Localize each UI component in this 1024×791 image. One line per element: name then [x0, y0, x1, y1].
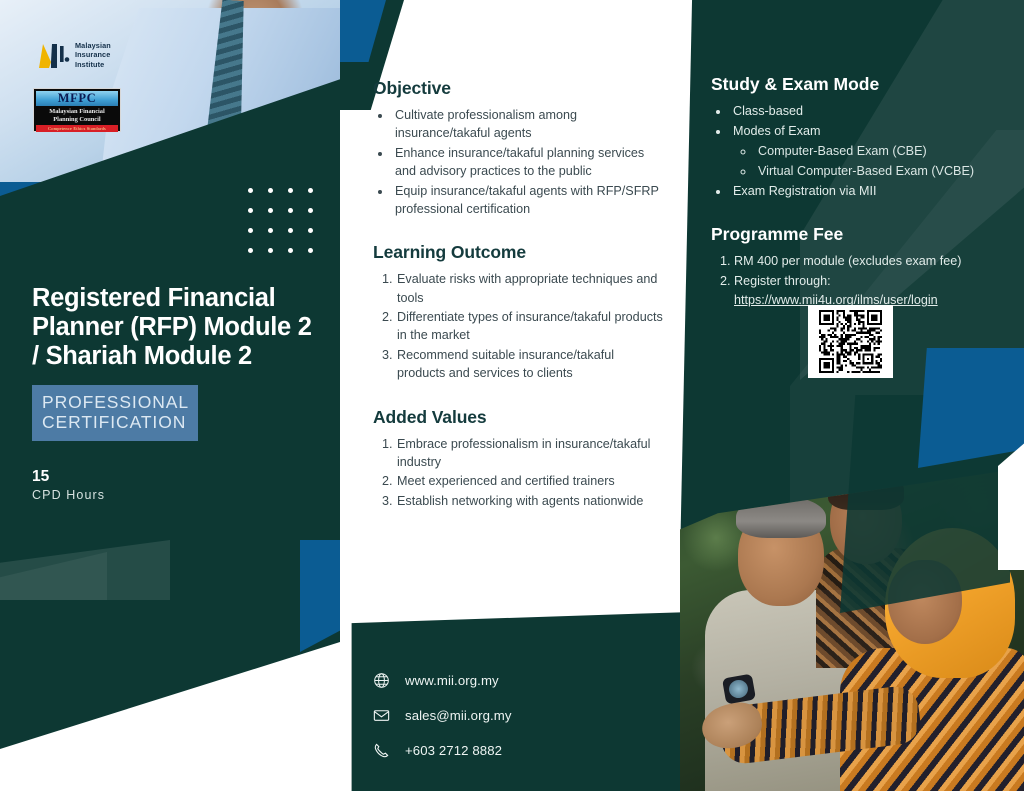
dot-grid-decoration	[248, 188, 312, 252]
mfpc-logo: MFPC Malaysian FinancialPlanning Council…	[33, 88, 121, 132]
grid-dot	[288, 248, 293, 253]
mfpc-logo-title: MFPC	[36, 91, 118, 106]
left-panel: Malaysian Insurance Institute MFPC Malay…	[0, 0, 340, 791]
contact-phone-row[interactable]: +603 2712 8882	[373, 742, 653, 759]
learning-outcome-heading: Learning Outcome	[373, 242, 663, 263]
register-through-label: Register through:	[734, 274, 831, 288]
mii-logo: Malaysian Insurance Institute	[36, 38, 140, 72]
list-item: Computer-Based Exam (CBE)	[755, 142, 1003, 161]
added-values-heading: Added Values	[373, 407, 663, 428]
list-item: RM 400 per module (excludes exam fee)	[734, 252, 1003, 271]
brochure-page: Malaysian Insurance Institute MFPC Malay…	[0, 0, 1024, 791]
grid-dot	[268, 208, 273, 213]
envelope-icon	[373, 707, 390, 724]
list-item: Embrace professionalism in insurance/tak…	[396, 435, 663, 472]
right-blue-parallelogram	[918, 348, 1024, 468]
middle-content: Objective Cultivate professionalism amon…	[373, 78, 663, 511]
grid-dot	[308, 228, 313, 233]
badge-line-2: CERTIFICATION	[42, 412, 189, 432]
learning-outcome-list: Evaluate risks with appropriate techniqu…	[373, 270, 663, 382]
list-item: Cultivate professionalism among insuranc…	[392, 106, 663, 143]
contact-website-row[interactable]: www.mii.org.my	[373, 672, 653, 689]
list-item: Meet experienced and certified trainers	[396, 472, 663, 490]
qr-code-icon	[813, 310, 888, 373]
list-item-label: Modes of Exam	[733, 124, 821, 138]
list-item: Equip insurance/takaful agents with RFP/…	[392, 182, 663, 219]
phone-icon	[373, 742, 390, 759]
contact-website-text: www.mii.org.my	[405, 673, 499, 688]
list-item: Evaluate risks with appropriate techniqu…	[396, 270, 663, 307]
badge-line-1: PROFESSIONAL	[42, 392, 189, 412]
mfpc-logo-tagline: Competence Ethics Standards	[36, 125, 118, 132]
grid-dot	[308, 208, 313, 213]
list-item: Enhance insurance/takaful planning servi…	[392, 144, 663, 181]
mii-logo-text: Malaysian Insurance Institute	[75, 41, 111, 69]
cpd-hours-number: 15	[32, 468, 105, 487]
globe-icon	[373, 672, 390, 689]
list-item: Exam Registration via MII	[730, 182, 1003, 201]
grid-dot	[308, 248, 313, 253]
right-panel: Study & Exam Mode Class-based Modes of E…	[680, 0, 1024, 791]
cpd-hours-block: 15 CPD Hours	[32, 468, 105, 503]
list-item: Differentiate types of insurance/takaful…	[396, 308, 663, 345]
professional-certification-badge: PROFESSIONAL CERTIFICATION	[32, 385, 198, 441]
grid-dot	[308, 188, 313, 193]
mii-logo-line-1: Malaysian	[75, 41, 111, 50]
study-exam-heading: Study & Exam Mode	[711, 74, 1003, 95]
list-item: Modes of Exam Computer-Based Exam (CBE) …	[730, 122, 1003, 181]
mii-logo-line-3: Institute	[75, 60, 104, 69]
cpd-hours-label: CPD Hours	[32, 487, 105, 504]
mii-logo-mark-icon	[36, 40, 70, 70]
contact-email-text: sales@mii.org.my	[405, 708, 512, 723]
objective-heading: Objective	[373, 78, 663, 99]
grid-dot	[288, 208, 293, 213]
grid-dot	[268, 188, 273, 193]
right-content: Study & Exam Mode Class-based Modes of E…	[711, 74, 1003, 311]
grid-dot	[268, 228, 273, 233]
page-title: Registered Financial Planner (RFP) Modul…	[32, 284, 322, 371]
list-item: Recommend suitable insurance/takaful pro…	[396, 346, 663, 383]
grid-dot	[248, 248, 253, 253]
mfpc-logo-subtitle: Malaysian FinancialPlanning Council	[36, 106, 118, 125]
programme-fee-list: RM 400 per module (excludes exam fee) Re…	[711, 252, 1003, 310]
list-item: Virtual Computer-Based Exam (VCBE)	[755, 162, 1003, 181]
hero-title-block: Registered Financial Planner (RFP) Modul…	[32, 284, 322, 441]
contact-phone-text: +603 2712 8882	[405, 743, 502, 758]
exam-modes-sublist: Computer-Based Exam (CBE) Virtual Comput…	[733, 142, 1003, 181]
grid-dot	[248, 188, 253, 193]
contact-footer: www.mii.org.my sales@mii.org.my +603 271…	[373, 672, 653, 777]
grid-dot	[268, 248, 273, 253]
mii-logo-line-2: Insurance	[75, 50, 110, 59]
programme-fee-heading: Programme Fee	[711, 224, 1003, 245]
list-item: Establish networking with agents nationw…	[396, 492, 663, 510]
added-values-list: Embrace professionalism in insurance/tak…	[373, 435, 663, 511]
grid-dot	[248, 228, 253, 233]
grid-dot	[288, 228, 293, 233]
contact-email-row[interactable]: sales@mii.org.my	[373, 707, 653, 724]
registration-qr-code[interactable]	[808, 305, 893, 378]
objective-list: Cultivate professionalism among insuranc…	[373, 106, 663, 218]
grid-dot	[248, 208, 253, 213]
study-exam-list: Class-based Modes of Exam Computer-Based…	[711, 102, 1003, 200]
list-item: Class-based	[730, 102, 1003, 121]
grid-dot	[288, 188, 293, 193]
